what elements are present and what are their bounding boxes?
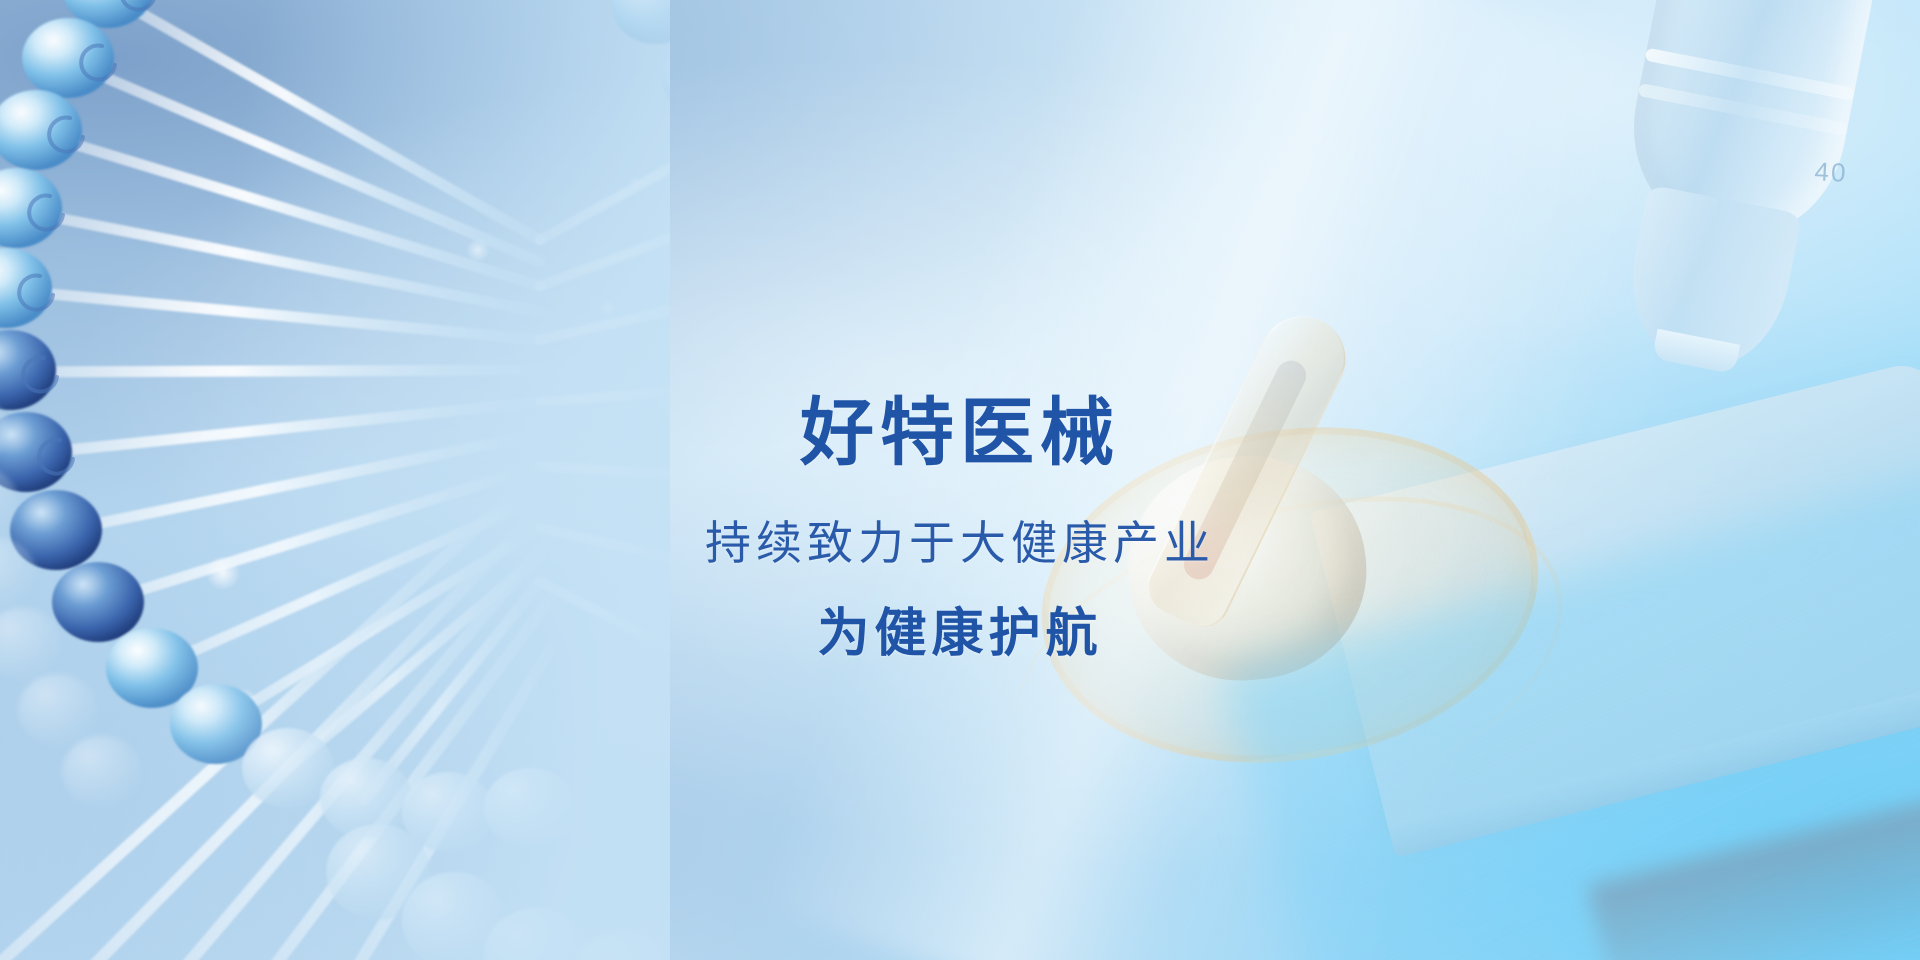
banner-headline: 好特医械 [800, 396, 1120, 470]
banner-tagline: 为健康护航 [817, 608, 1102, 660]
banner-subline: 持续致力于大健康产业 [705, 520, 1215, 566]
banner-text-block: 好特医械 持续致力于大健康产业 为健康护航 [0, 0, 1920, 960]
hero-banner: 40 好特医械 持续致力于大健康产业 为健康护航 [0, 0, 1920, 960]
